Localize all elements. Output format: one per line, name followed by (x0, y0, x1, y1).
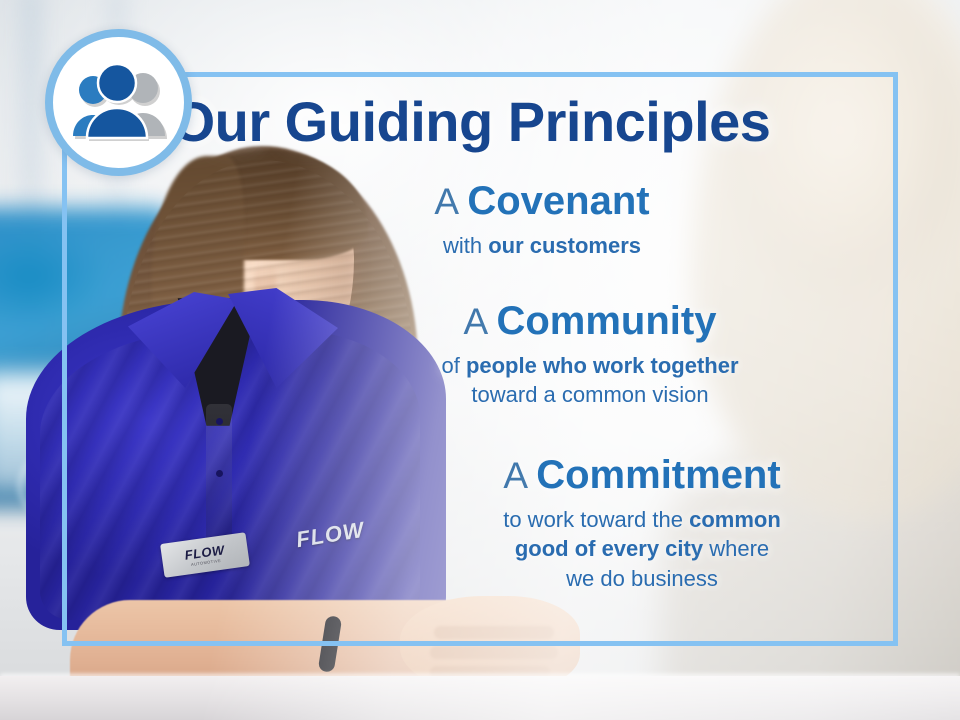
principle-covenant: A Covenant with our customers (292, 180, 792, 260)
subtext-emphasis: good of every city (515, 536, 703, 561)
subtext-plain: where (703, 536, 769, 561)
principle-article: A (503, 455, 536, 496)
principle-community: A Community of people who work togethert… (330, 300, 850, 410)
subtext-emphasis: common (689, 507, 781, 532)
principle-heading: A Commitment (392, 454, 892, 496)
principle-subtext: to work toward the commongood of every c… (392, 505, 892, 593)
white-table (0, 676, 960, 720)
principle-commitment: A Commitment to work toward the commongo… (392, 454, 892, 593)
subtext-line: we do business (392, 564, 892, 593)
subtext-plain: with (443, 233, 488, 258)
subtext-plain: to work toward the (503, 507, 689, 532)
subtext-line: of people who work together (330, 351, 850, 380)
principle-word: Covenant (467, 179, 649, 223)
subtext-line: toward a common vision (330, 380, 850, 409)
content-area: Our Guiding Principles A Covenant with o… (62, 72, 898, 646)
finger (430, 646, 558, 659)
principle-word: Community (496, 299, 716, 343)
guiding-principles-poster: FLOW AUTOMOTIVE FLOW Our Guiding Princip… (0, 0, 960, 720)
subtext-emphasis: people who work together (466, 353, 739, 378)
principle-subtext: with our customers (292, 231, 792, 260)
principle-heading: A Community (330, 300, 850, 342)
group-people-icon (67, 64, 171, 142)
subtext-line: to work toward the common (392, 505, 892, 534)
principle-article: A (434, 181, 467, 222)
principle-heading: A Covenant (292, 180, 792, 222)
principle-subtext: of people who work togethertoward a comm… (330, 351, 850, 410)
principle-article: A (464, 301, 497, 342)
subtext-line: good of every city where (392, 534, 892, 563)
people-badge (45, 29, 192, 176)
subtext-line: with our customers (292, 231, 792, 260)
subtext-plain: of (441, 353, 465, 378)
subtext-plain: we do business (566, 566, 718, 591)
subtext-emphasis: our customers (488, 233, 641, 258)
principle-word: Commitment (536, 453, 780, 497)
subtext-plain: toward a common vision (471, 382, 708, 407)
